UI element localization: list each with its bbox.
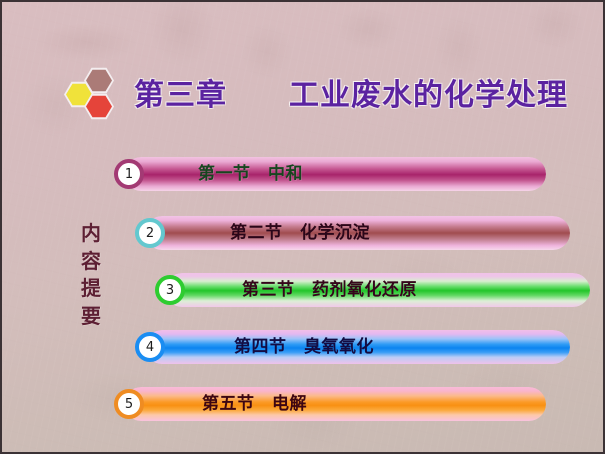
- side-label-char-1: 内: [78, 220, 104, 248]
- section-number-circle-5[interactable]: 5: [114, 389, 144, 419]
- section-label-5: 第五节 电解: [202, 387, 307, 421]
- section-label-1: 第一节 中和: [198, 157, 303, 191]
- section-number-circle-2[interactable]: 2: [135, 218, 165, 248]
- side-label-char-2: 容: [78, 248, 104, 276]
- vertical-section-label: 内 容 提 要: [78, 220, 104, 330]
- section-bar-5-pill: [124, 387, 546, 421]
- section-number-circle-4[interactable]: 4: [135, 332, 165, 362]
- presentation-slide: 第三章 工业废水的化学处理 内 容 提 要 1 第一节 中和 2 第二节 化学沉…: [0, 0, 605, 454]
- side-label-char-3: 提: [78, 275, 104, 303]
- section-bar-1-fill: [124, 157, 546, 191]
- section-bar-5-fill: [124, 387, 546, 421]
- section-label-4: 第四节 臭氧氧化: [234, 330, 374, 364]
- slide-title-row: 第三章 工业废水的化学处理: [64, 66, 568, 118]
- section-number-circle-3[interactable]: 3: [155, 275, 185, 305]
- section-label-2: 第二节 化学沉淀: [230, 216, 370, 250]
- section-number-circle-1[interactable]: 1: [114, 159, 144, 189]
- side-label-char-4: 要: [78, 303, 104, 331]
- slide-title: 第三章 工业废水的化学处理: [134, 70, 568, 114]
- section-bar-1-pill: [124, 157, 546, 191]
- hexagon-cluster-decoration: [64, 66, 120, 118]
- section-label-3: 第三节 药剂氧化还原: [242, 273, 417, 307]
